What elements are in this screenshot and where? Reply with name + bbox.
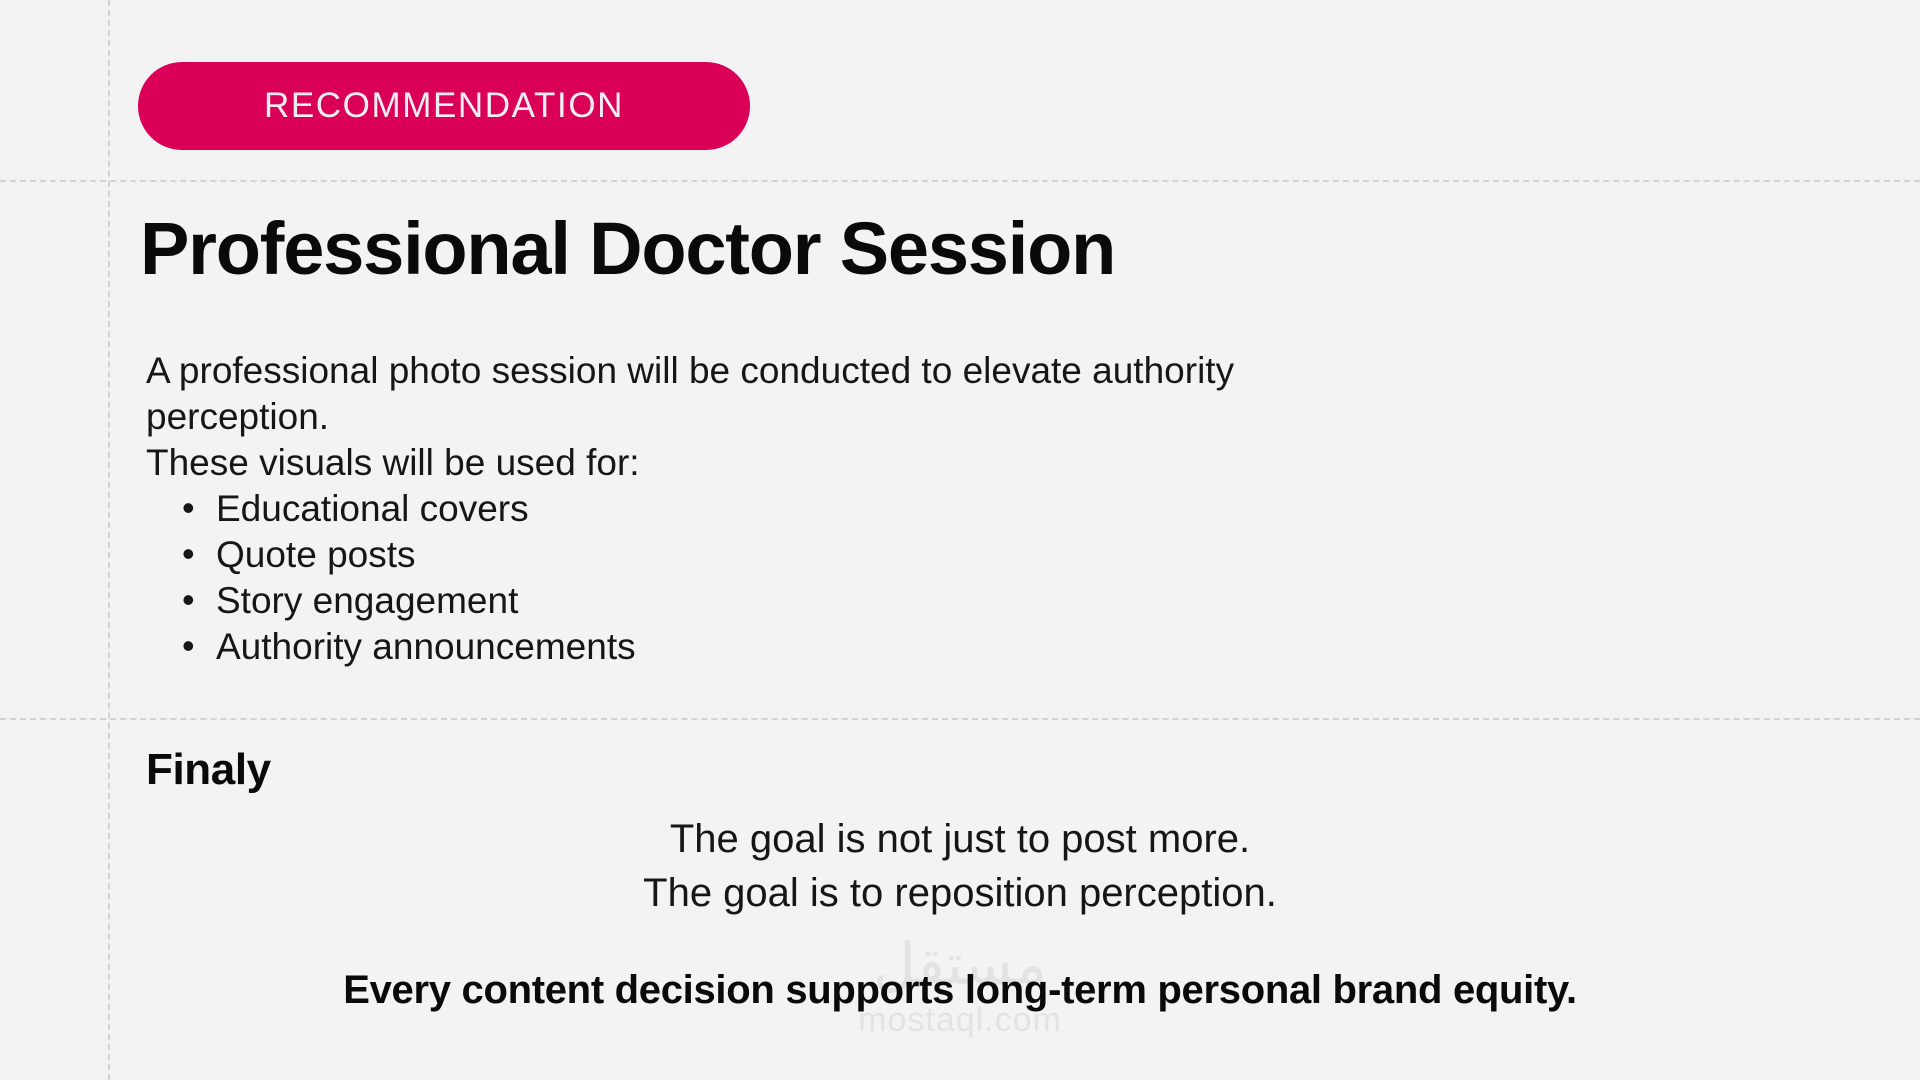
recommendation-badge[interactable]: RECOMMENDATION [138,62,750,150]
recommendation-badge-wrapper: RECOMMENDATION [138,62,750,150]
goal-statement-block: The goal is not just to post more. The g… [0,812,1920,920]
body-paragraph-1: A professional photo session will be con… [146,348,1396,440]
goal-line-2: The goal is to reposition perception. [0,866,1920,920]
list-item: Story engagement [146,578,1396,624]
slide-canvas: مستقل mostaql.com RECOMMENDATION Profess… [0,0,1920,1080]
list-item: Quote posts [146,532,1396,578]
body-paragraph-2: These visuals will be used for: [146,440,1396,486]
usage-bullet-list: Educational covers Quote posts Story eng… [146,486,1396,670]
horizontal-guide-line-top [0,180,1920,182]
list-item: Authority announcements [146,624,1396,670]
goal-line-1: The goal is not just to post more. [0,812,1920,866]
finaly-heading: Finaly [146,748,271,792]
section-one-body: A professional photo session will be con… [146,348,1396,670]
list-item: Educational covers [146,486,1396,532]
horizontal-guide-line-middle [0,718,1920,720]
closing-statement: Every content decision supports long-ter… [0,968,1920,1012]
page-title: Professional Doctor Session [140,212,1115,286]
